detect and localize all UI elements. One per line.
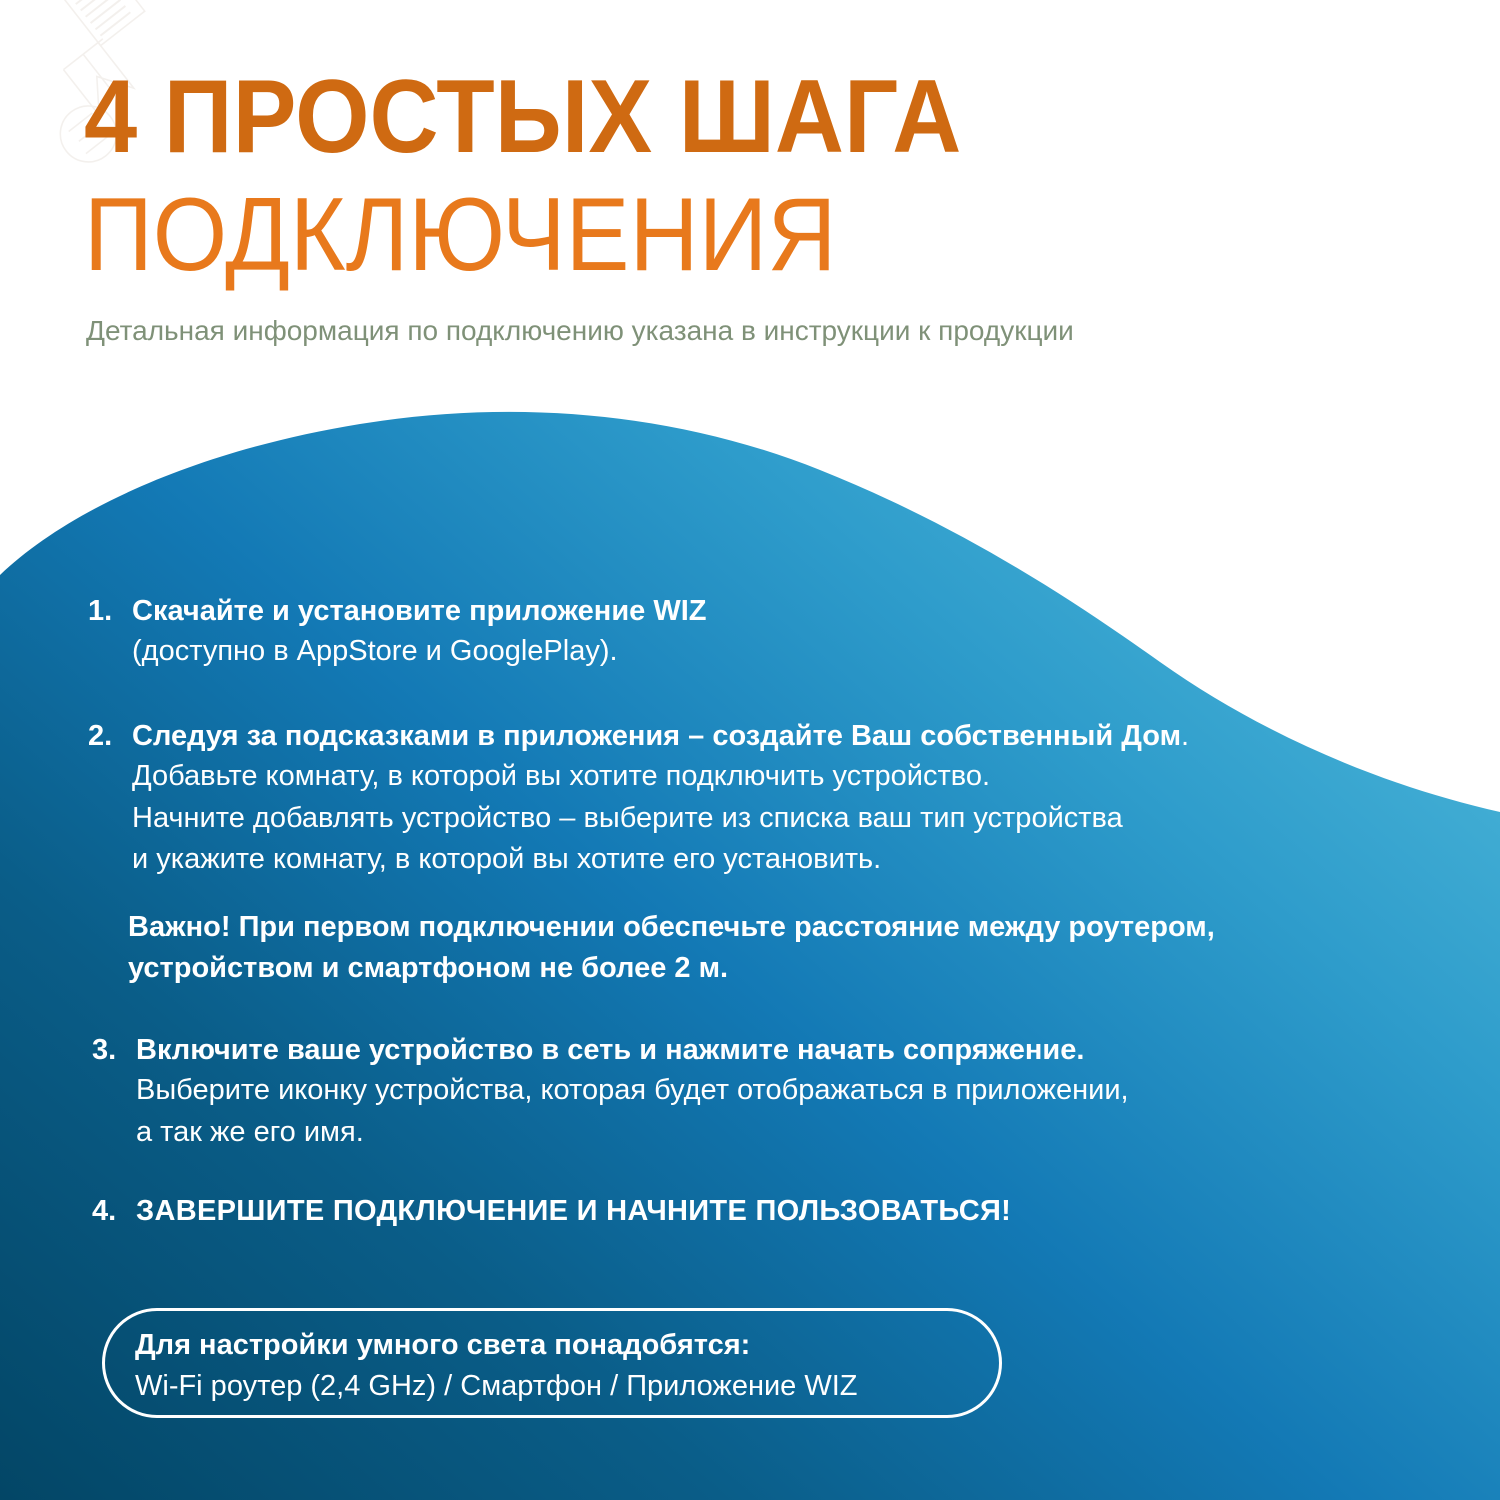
list-item-step-3: 3. Включите ваше устройство в сеть и наж… (92, 1031, 1129, 1153)
step-number: 4. (92, 1192, 136, 1231)
step-body: Включите ваше устройство в сеть и нажмит… (136, 1031, 1129, 1153)
requirements-items: Wi-Fi роутер (2,4 GHz) / Смартфон / Прил… (135, 1366, 858, 1407)
step-heading: Следуя за подсказками в приложения – соз… (132, 717, 1189, 756)
note-line-2: устройством и смартфоном не более 2 м. (128, 948, 1215, 989)
step-heading-text: Следуя за подсказками в приложения – соз… (132, 720, 1181, 752)
page-title-line-1: 4 ПРОСТЫХ ШАГА (84, 65, 961, 169)
step-detail-line: Начните добавлять устройство – выберите … (132, 798, 1189, 839)
step-heading-tail: . (1181, 720, 1189, 752)
important-note: Важно! При первом подключении обеспечьте… (128, 907, 1215, 989)
step-detail-line: (доступно в AppStore и GooglePlay). (132, 631, 706, 672)
step-heading: Включите ваше устройство в сеть и нажмит… (136, 1031, 1129, 1070)
step-body: ЗАВЕРШИТЕ ПОДКЛЮЧЕНИЕ И НАЧНИТЕ ПОЛЬЗОВА… (136, 1192, 1011, 1231)
requirements-title: Для настройки умного света понадобятся: (135, 1325, 858, 1366)
step-detail-line: и укажите комнату, в которой вы хотите е… (132, 839, 1189, 880)
list-item-step-1: 1. Скачайте и установите приложение WIZ … (88, 592, 706, 673)
step-number: 1. (88, 592, 132, 631)
list-item-step-4: 4. ЗАВЕРШИТЕ ПОДКЛЮЧЕНИЕ И НАЧНИТЕ ПОЛЬЗ… (92, 1192, 1011, 1231)
step-body: Скачайте и установите приложение WIZ (до… (132, 592, 706, 673)
list-item-step-2: 2. Следуя за подсказками в приложения – … (88, 717, 1189, 880)
step-number: 3. (92, 1031, 136, 1070)
page-subtitle: Детальная информация по подключению указ… (86, 313, 1074, 349)
step-heading: ЗАВЕРШИТЕ ПОДКЛЮЧЕНИЕ И НАЧНИТЕ ПОЛЬЗОВА… (136, 1192, 1011, 1231)
step-detail-line: Выберите иконку устройства, которая буде… (136, 1070, 1129, 1111)
step-detail-line: а так же его имя. (136, 1112, 1129, 1153)
note-body: Важно! При первом подключении обеспечьте… (128, 907, 1215, 989)
note-line-1: Важно! При первом подключении обеспечьте… (128, 907, 1215, 948)
page-title-line-2: ПОДКЛЮЧЕНИЯ (84, 183, 836, 287)
step-heading: Скачайте и установите приложение WIZ (132, 592, 706, 631)
requirements-content: Для настройки умного света понадобятся: … (135, 1325, 858, 1406)
step-detail-line: Добавьте комнату, в которой вы хотите по… (132, 756, 1189, 797)
step-number: 2. (88, 717, 132, 756)
step-body: Следуя за подсказками в приложения – соз… (132, 717, 1189, 880)
requirements-callout: Для настройки умного света понадобятся: … (102, 1308, 1002, 1418)
